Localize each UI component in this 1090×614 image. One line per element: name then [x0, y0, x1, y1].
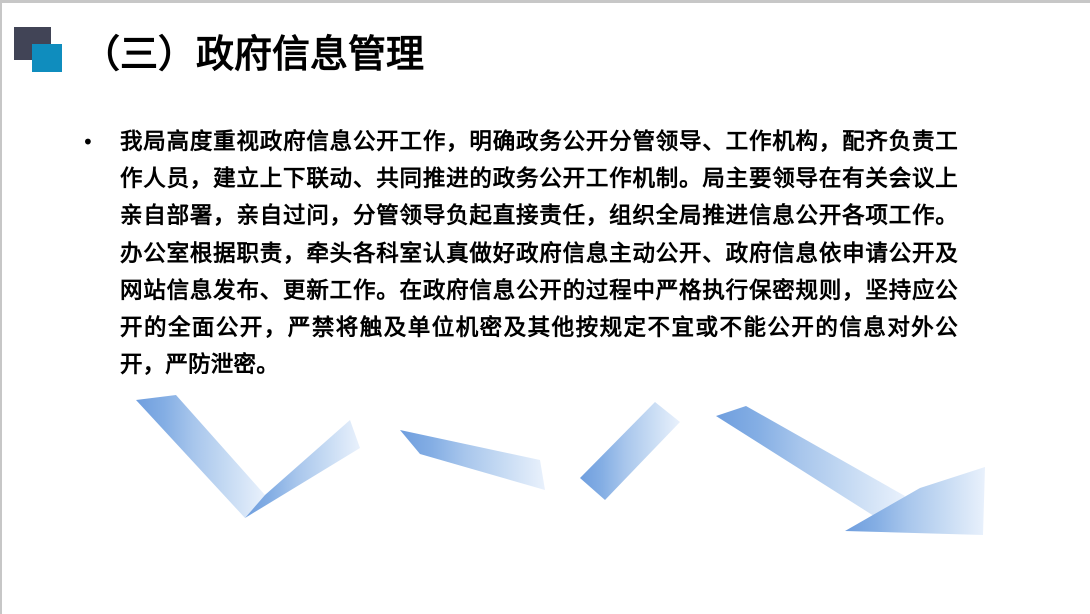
flow-ribbon-arrow-icon [0, 368, 1090, 548]
bullet-paragraph: • 我局高度重视政府信息公开工作，明确政务公开分管领导、工作机构，配齐负责工作人… [78, 124, 958, 384]
paragraph-text: 我局高度重视政府信息公开工作，明确政务公开分管领导、工作机构，配齐负责工作人员，… [120, 124, 958, 384]
decor-square-blue-icon [32, 44, 62, 72]
process-flow-diagram: 工作人员 编写整理 政务公开 小组负责 人审核 发布并登 记台账 [0, 368, 1090, 548]
body-content: • 我局高度重视政府信息公开工作，明确政务公开分管领导、工作机构，配齐负责工作人… [78, 124, 958, 384]
slide-canvas: （三）政府信息管理 • 我局高度重视政府信息公开工作，明确政务公开分管领导、工作… [0, 0, 1090, 614]
slide-top-border [0, 0, 1090, 3]
page-title: （三）政府信息管理 [82, 35, 424, 73]
bullet-marker-icon: • [78, 124, 120, 161]
